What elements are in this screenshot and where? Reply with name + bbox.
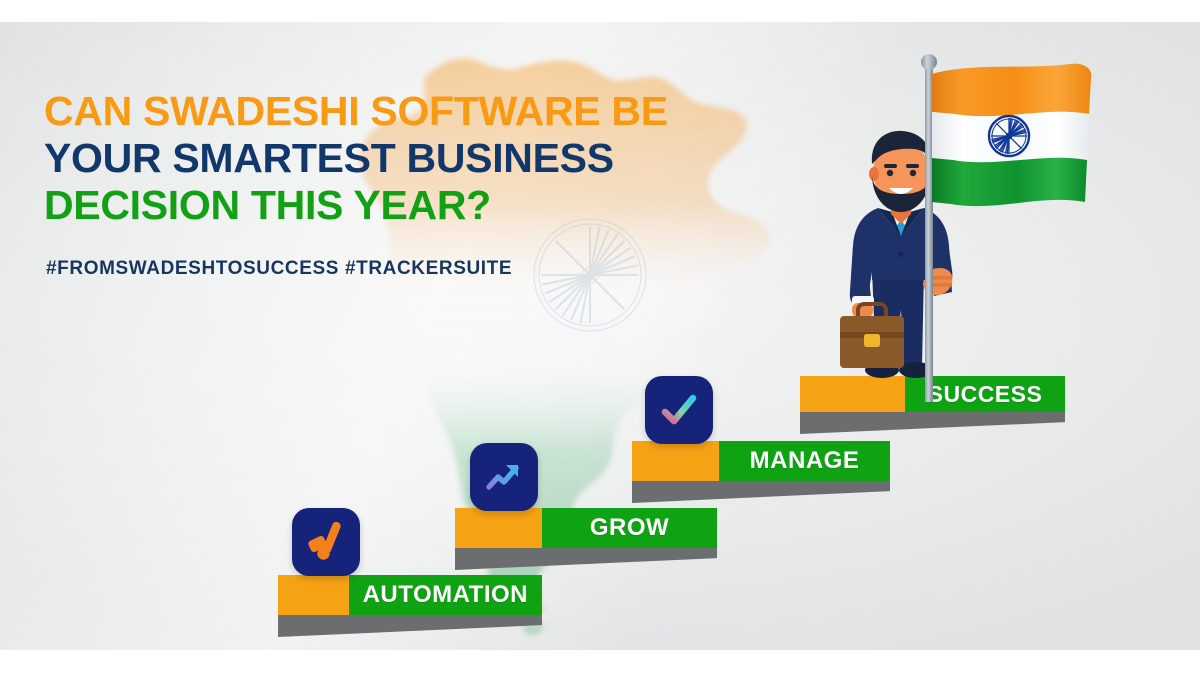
- step-shadow: [455, 548, 717, 570]
- step-shadow: [800, 412, 1065, 434]
- gavel-icon: [303, 519, 349, 565]
- step-bar-orange-segment: [455, 508, 542, 548]
- step-automation[interactable]: AUTOMATION: [278, 575, 542, 639]
- trending-up-arrow-icon: [482, 455, 526, 499]
- step-label: MANAGE: [736, 447, 874, 475]
- step-grow[interactable]: GROW: [455, 508, 717, 572]
- banner-canvas: CAN SWADESHI SOFTWARE BE YOUR SMARTEST B…: [0, 0, 1200, 675]
- step-bar-orange-segment: [278, 575, 349, 615]
- step-bar-orange-segment: [632, 441, 719, 481]
- step-label: GROW: [576, 514, 683, 542]
- step-bar-green-segment: GROW: [542, 508, 717, 548]
- checkmark-icon: [657, 388, 701, 432]
- trending-up-arrow-icon-tile[interactable]: [470, 443, 538, 511]
- step-bar: MANAGE: [632, 441, 890, 481]
- step-manage[interactable]: MANAGE: [632, 441, 890, 505]
- step-bar: GROW: [455, 508, 717, 548]
- step-shadow: [632, 481, 890, 503]
- step-bar-green-segment: MANAGE: [719, 441, 890, 481]
- gavel-icon-tile[interactable]: [292, 508, 360, 576]
- indian-flag: [905, 52, 1105, 402]
- step-bar-green-segment: AUTOMATION: [349, 575, 542, 615]
- step-label: AUTOMATION: [349, 581, 542, 609]
- checkmark-icon-tile[interactable]: [645, 376, 713, 444]
- step-shadow: [278, 615, 542, 637]
- step-bar: AUTOMATION: [278, 575, 542, 615]
